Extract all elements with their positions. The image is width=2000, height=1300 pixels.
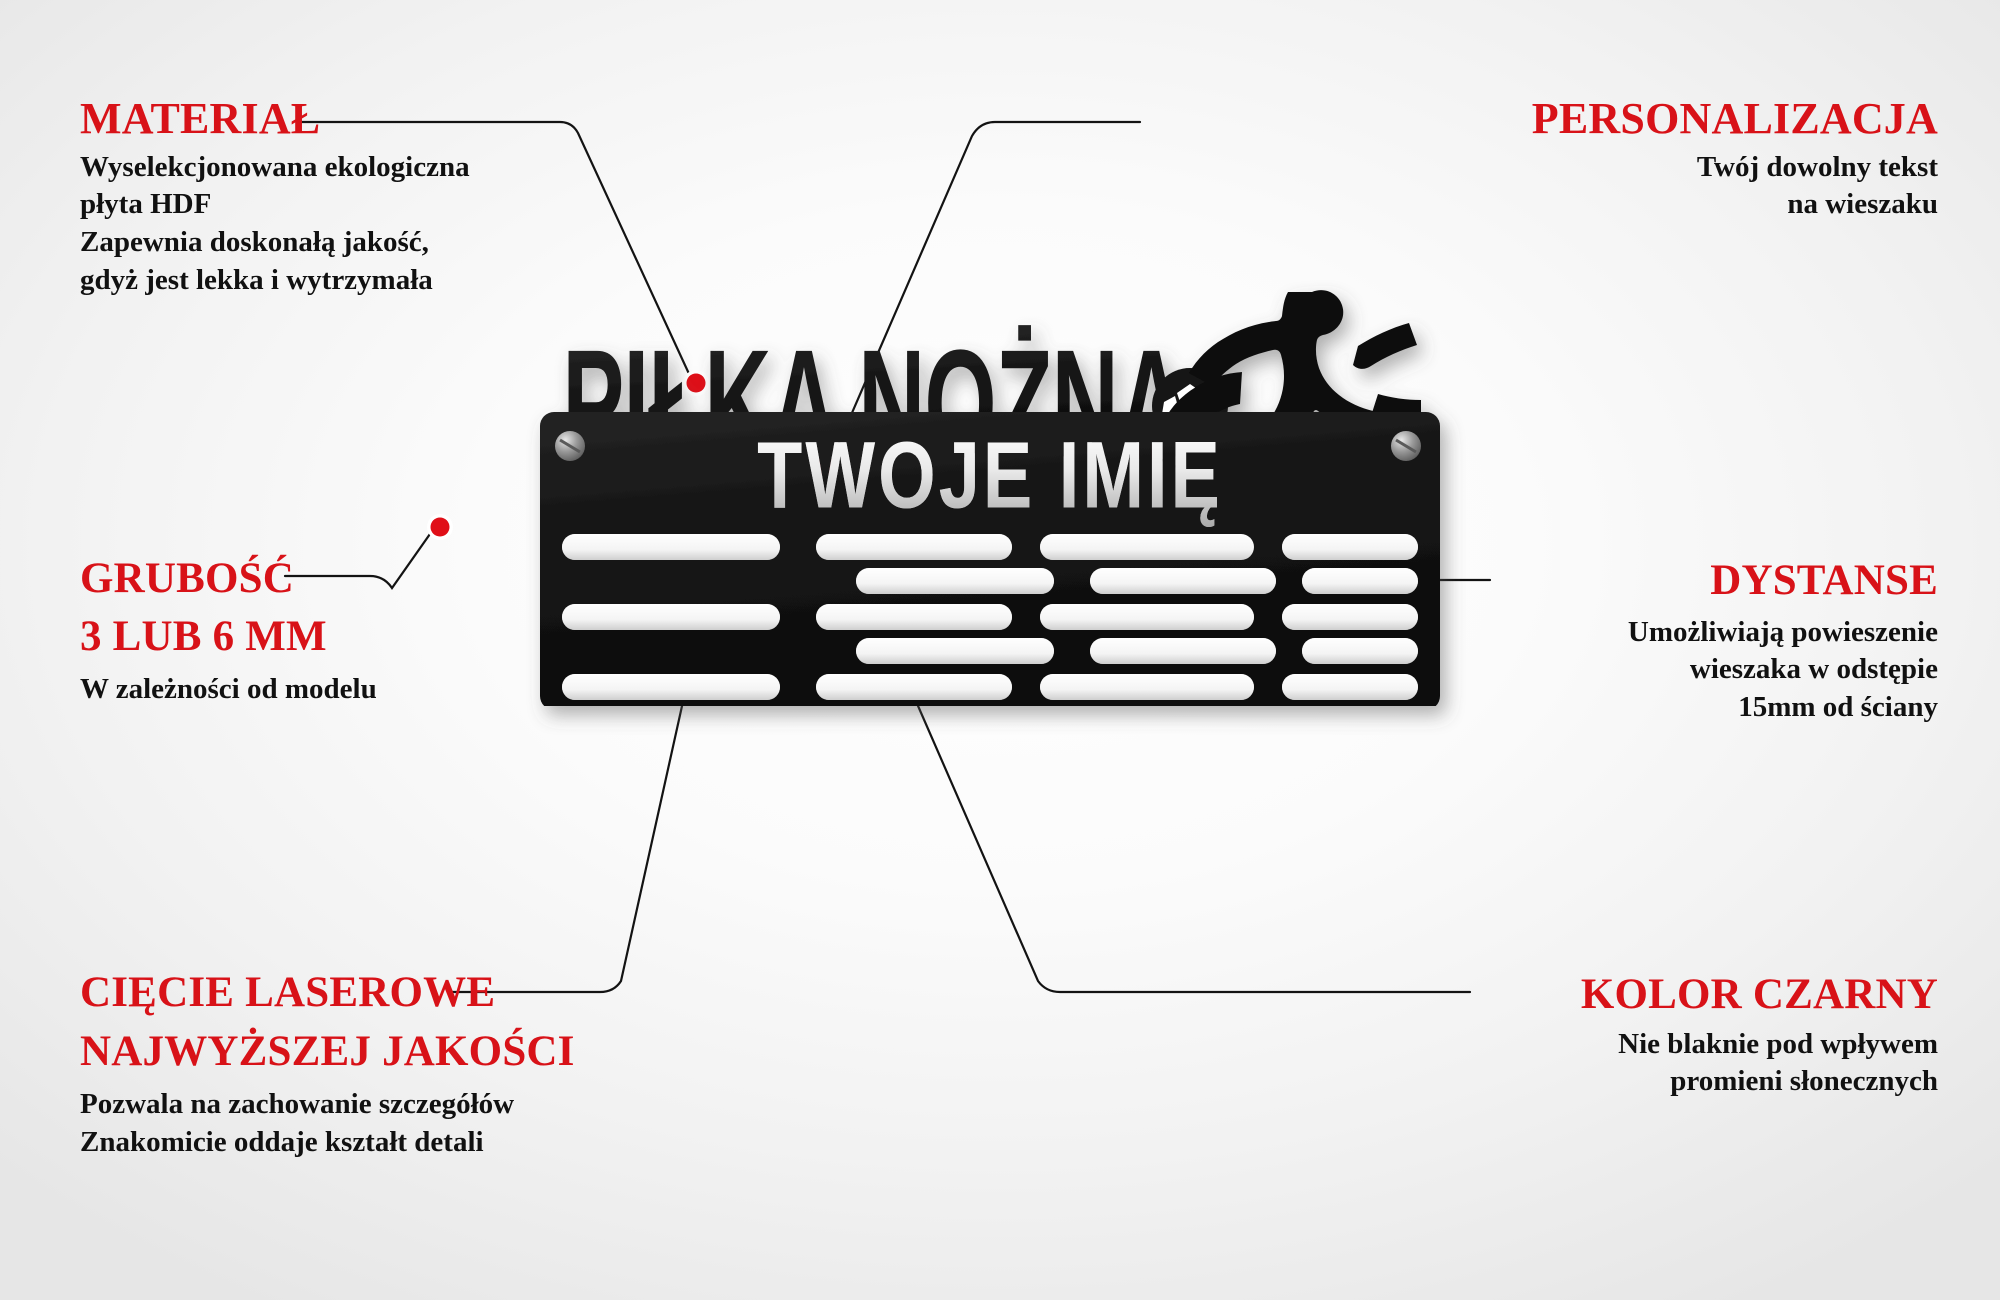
callout-title-grubosc: GRUBOŚĆ 3 LUB 6 MM <box>80 556 377 659</box>
callout-line: W zależności od modelu <box>80 671 377 709</box>
screw-icon-right <box>1391 431 1421 461</box>
callout-kolor-czarny: KOLOR CZARNY Nie blaknie pod wpływem pro… <box>1581 972 1938 1101</box>
callout-body-personalizacja: Twój dowolny tekst na wieszaku <box>1532 149 1938 224</box>
callout-body-material: Wyselekcjonowana ekologiczna płyta HDF Z… <box>80 149 470 300</box>
callout-personalizacja: PERSONALIZACJA Twój dowolny tekst na wie… <box>1532 96 1938 224</box>
callout-body-dystanse: Umożliwiają powieszenie wieszaka w odstę… <box>1628 614 1938 727</box>
callout-line: Twój dowolny tekst <box>1532 149 1938 187</box>
callout-line: gdyż jest lekka i wytrzymała <box>80 262 470 300</box>
callout-line: Wyselekcjonowana ekologiczna <box>80 149 470 187</box>
leader-line-ciecie <box>452 670 690 992</box>
callout-line: Zapewnia doskonałą jakość, <box>80 224 470 262</box>
callout-title-dystanse: DYSTANSE <box>1628 558 1938 604</box>
callout-body-kolor: Nie blaknie pod wpływem promieni słonecz… <box>1581 1026 1938 1101</box>
callout-title-ciecie: CIĘCIE LASEROWE NAJWYŻSZEJ JAKOŚCI <box>80 970 575 1074</box>
infographic-stage: TWOJE IMIĘ <box>0 0 2000 1300</box>
callout-line: wieszaka w odstępie <box>1628 651 1938 689</box>
product-cutout-text: TWOJE IMIĘ <box>757 423 1223 529</box>
callout-line: płyta HDF <box>80 186 470 224</box>
callout-body-ciecie: Pozwala na zachowanie szczegółów Znakomi… <box>80 1086 575 1161</box>
callout-line: Nie blaknie pod wpływem <box>1581 1026 1938 1064</box>
callout-line: Umożliwiają powieszenie <box>1628 614 1938 652</box>
screw-icon-left <box>555 431 585 461</box>
marker-dot-grubosc <box>427 514 453 540</box>
callout-line: Znakomicie oddaje kształt detali <box>80 1124 575 1162</box>
callout-title-kolor: KOLOR CZARNY <box>1581 972 1938 1018</box>
callout-line: na wieszaku <box>1532 186 1938 224</box>
callout-title-line1: GRUBOŚĆ <box>80 555 294 602</box>
callout-material: MATERIAŁ Wyselekcjonowana ekologiczna pł… <box>80 96 470 299</box>
callout-title-personalizacja: PERSONALIZACJA <box>1532 96 1938 143</box>
callout-grubosc: GRUBOŚĆ 3 LUB 6 MM W zależności od model… <box>80 556 377 709</box>
callout-title-line2: NAJWYŻSZEJ JAKOŚCI <box>80 1029 575 1075</box>
callout-line: 15mm od ściany <box>1628 689 1938 727</box>
callout-line: promieni słonecznych <box>1581 1063 1938 1101</box>
callout-body-grubosc: W zależności od modelu <box>80 671 377 709</box>
product-medal-hanger: TWOJE IMIĘ <box>540 286 1440 706</box>
callout-ciecie-laserowe: CIĘCIE LASEROWE NAJWYŻSZEJ JAKOŚCI Pozwa… <box>80 970 575 1162</box>
callout-title-line1: CIĘCIE LASEROWE <box>80 969 495 1016</box>
callout-dystanse: DYSTANSE Umożliwiają powieszenie wieszak… <box>1628 558 1938 727</box>
callout-line: Pozwala na zachowanie szczegółów <box>80 1086 575 1124</box>
callout-title-line2: 3 LUB 6 MM <box>80 614 377 660</box>
callout-title-material: MATERIAŁ <box>80 96 470 143</box>
